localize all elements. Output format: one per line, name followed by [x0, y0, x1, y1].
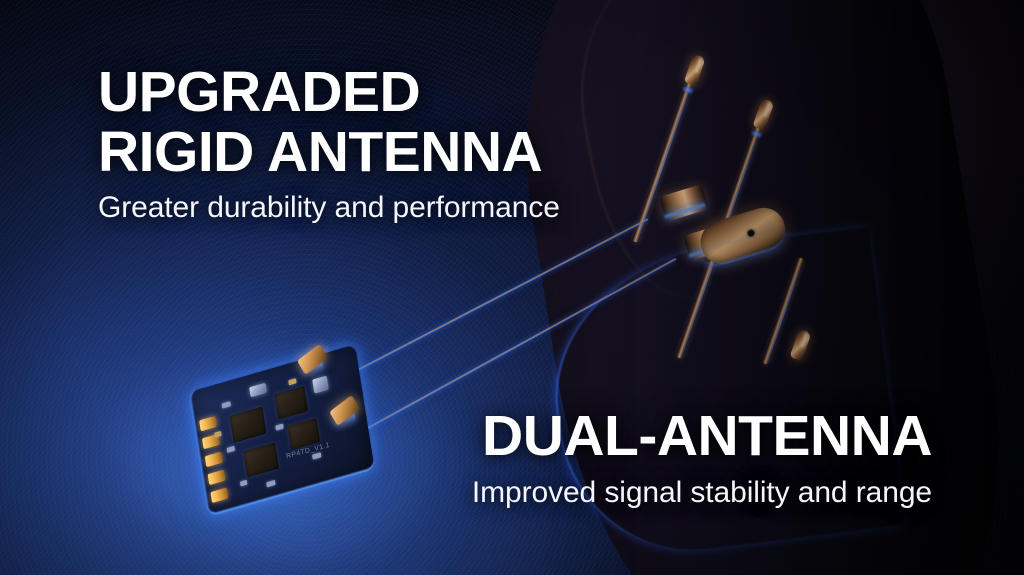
upgraded-headline-line2: RIGID ANTENNA	[98, 122, 560, 182]
callout-dual-antenna: DUAL-ANTENNA Improved signal stability a…	[438, 406, 932, 513]
product-feature-banner: RP4TD_V1.1 UPGRADED RIGID ANTENNA Greate…	[0, 0, 1024, 575]
upgraded-subtitle: Greater durability and performance	[98, 188, 560, 228]
upgraded-headline-line1: UPGRADED	[98, 62, 560, 122]
text-overlay: UPGRADED RIGID ANTENNA Greater durabilit…	[0, 0, 1024, 575]
dual-antenna-headline: DUAL-ANTENNA	[438, 406, 932, 466]
dual-antenna-subtitle: Improved signal stability and range	[438, 473, 932, 513]
callout-upgraded-rigid-antenna: UPGRADED RIGID ANTENNA Greater durabilit…	[98, 62, 560, 228]
